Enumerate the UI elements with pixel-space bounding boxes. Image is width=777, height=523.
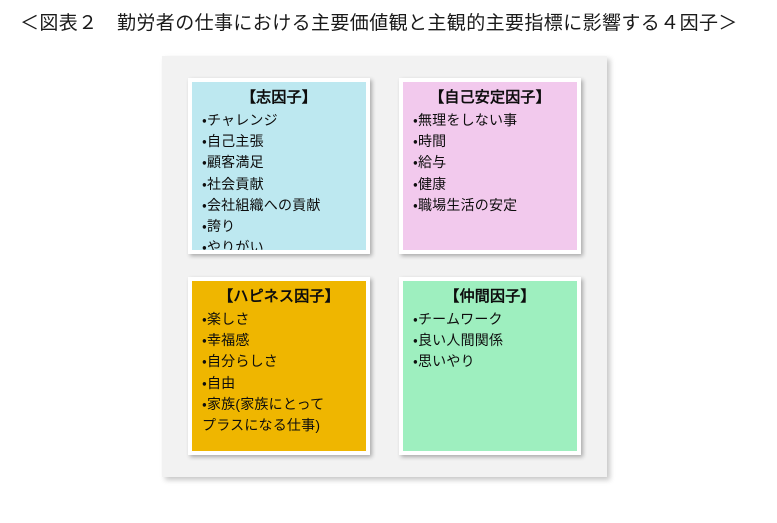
factor-item: ・チームワーク xyxy=(413,309,571,330)
factor-item: ・良い人間関係 xyxy=(413,330,571,351)
factor-item: ・自己主張 xyxy=(202,131,360,152)
factor-item-label: 無理をしない事 xyxy=(418,112,517,128)
factor-item: ・無理をしない事 xyxy=(413,110,571,131)
factor-item: ・社会貢献 xyxy=(202,174,360,195)
factor-item-label: 職場生活の安定 xyxy=(418,197,517,213)
factor-item: ・自由 xyxy=(202,373,360,394)
factor-item: ・家族(家族にとって プラスになる仕事) xyxy=(202,394,360,437)
factor-heading-4: 【仲間因子】 xyxy=(409,286,571,308)
factor-item-label: 自己主張 xyxy=(207,133,264,149)
factor-item: ・誇り xyxy=(202,216,360,237)
factor-item-list-2: ・無理をしない事・時間・給与・健康・職場生活の安定 xyxy=(409,110,571,216)
factor-item-label: 誇り xyxy=(207,218,235,234)
factor-item: ・健康 xyxy=(413,174,571,195)
factor-item-label: 楽しさ xyxy=(207,311,250,327)
factor-box-shi: 【志因子】 ・チャレンジ・自己主張・顧客満足・社会貢献・会社組織への貢献・誇り・… xyxy=(188,78,370,254)
factor-item-label: 思いやり xyxy=(418,353,475,369)
factor-item-label: 自分らしさ xyxy=(207,353,278,369)
figure-title: ＜図表２ 勤労者の仕事における主要価値観と主観的主要指標に影響する４因子＞ xyxy=(20,9,760,39)
factor-item: ・給与 xyxy=(413,152,571,173)
factor-heading-1: 【志因子】 xyxy=(198,87,360,109)
factor-item-list-4: ・チームワーク・良い人間関係・思いやり xyxy=(409,309,571,373)
factor-item-list-1: ・チャレンジ・自己主張・顧客満足・社会貢献・会社組織への貢献・誇り・やりがい xyxy=(198,110,360,254)
factor-item: ・楽しさ xyxy=(202,309,360,330)
factor-box-body-1: 【志因子】 ・チャレンジ・自己主張・顧客満足・社会貢献・会社組織への貢献・誇り・… xyxy=(192,82,366,250)
factor-item-label: 給与 xyxy=(418,154,446,170)
factor-item-label: 社会貢献 xyxy=(207,176,264,192)
factor-item: ・自分らしさ xyxy=(202,351,360,372)
factor-item: ・顧客満足 xyxy=(202,152,360,173)
figure-panel: 【志因子】 ・チャレンジ・自己主張・顧客満足・社会貢献・会社組織への貢献・誇り・… xyxy=(162,56,607,477)
factor-item-list-3: ・楽しさ・幸福感・自分らしさ・自由・家族(家族にとって プラスになる仕事) xyxy=(198,309,360,437)
factor-item: ・会社組織への貢献 xyxy=(202,195,360,216)
factor-item-label: 自由 xyxy=(207,375,235,391)
factor-item-label: 幸福感 xyxy=(207,332,250,348)
factor-item-label: チャレンジ xyxy=(207,112,278,128)
factor-heading-3: 【ハピネス因子】 xyxy=(198,286,360,308)
factor-item: ・チャレンジ xyxy=(202,110,360,131)
factor-item-label: チームワーク xyxy=(418,311,503,327)
factor-item: ・やりがい xyxy=(202,237,360,254)
factor-box-body-4: 【仲間因子】 ・チームワーク・良い人間関係・思いやり xyxy=(403,281,577,451)
factor-box-body-3: 【ハピネス因子】 ・楽しさ・幸福感・自分らしさ・自由・家族(家族にとって プラス… xyxy=(192,281,366,451)
factor-box-nakama: 【仲間因子】 ・チームワーク・良い人間関係・思いやり xyxy=(399,277,581,455)
factor-item-label: 健康 xyxy=(418,176,446,192)
factor-item-label: 会社組織への貢献 xyxy=(207,197,321,213)
factor-box-body-2: 【自己安定因子】 ・無理をしない事・時間・給与・健康・職場生活の安定 xyxy=(403,82,577,250)
factor-item: ・幸福感 xyxy=(202,330,360,351)
factor-item-label: 顧客満足 xyxy=(207,154,264,170)
factor-item-label: 時間 xyxy=(418,133,446,149)
factor-item-label: 家族(家族にとって プラスになる仕事) xyxy=(202,396,324,433)
factor-grid: 【志因子】 ・チャレンジ・自己主張・顧客満足・社会貢献・会社組織への貢献・誇り・… xyxy=(162,56,607,477)
factor-box-jiko-antei: 【自己安定因子】 ・無理をしない事・時間・給与・健康・職場生活の安定 xyxy=(399,78,581,254)
factor-item: ・思いやり xyxy=(413,351,571,372)
factor-item-label: 良い人間関係 xyxy=(418,332,503,348)
factor-heading-2: 【自己安定因子】 xyxy=(409,87,571,109)
factor-item-label: やりがい xyxy=(207,239,264,254)
factor-box-happiness: 【ハピネス因子】 ・楽しさ・幸福感・自分らしさ・自由・家族(家族にとって プラス… xyxy=(188,277,370,455)
factor-item: ・職場生活の安定 xyxy=(413,195,571,216)
factor-item: ・時間 xyxy=(413,131,571,152)
